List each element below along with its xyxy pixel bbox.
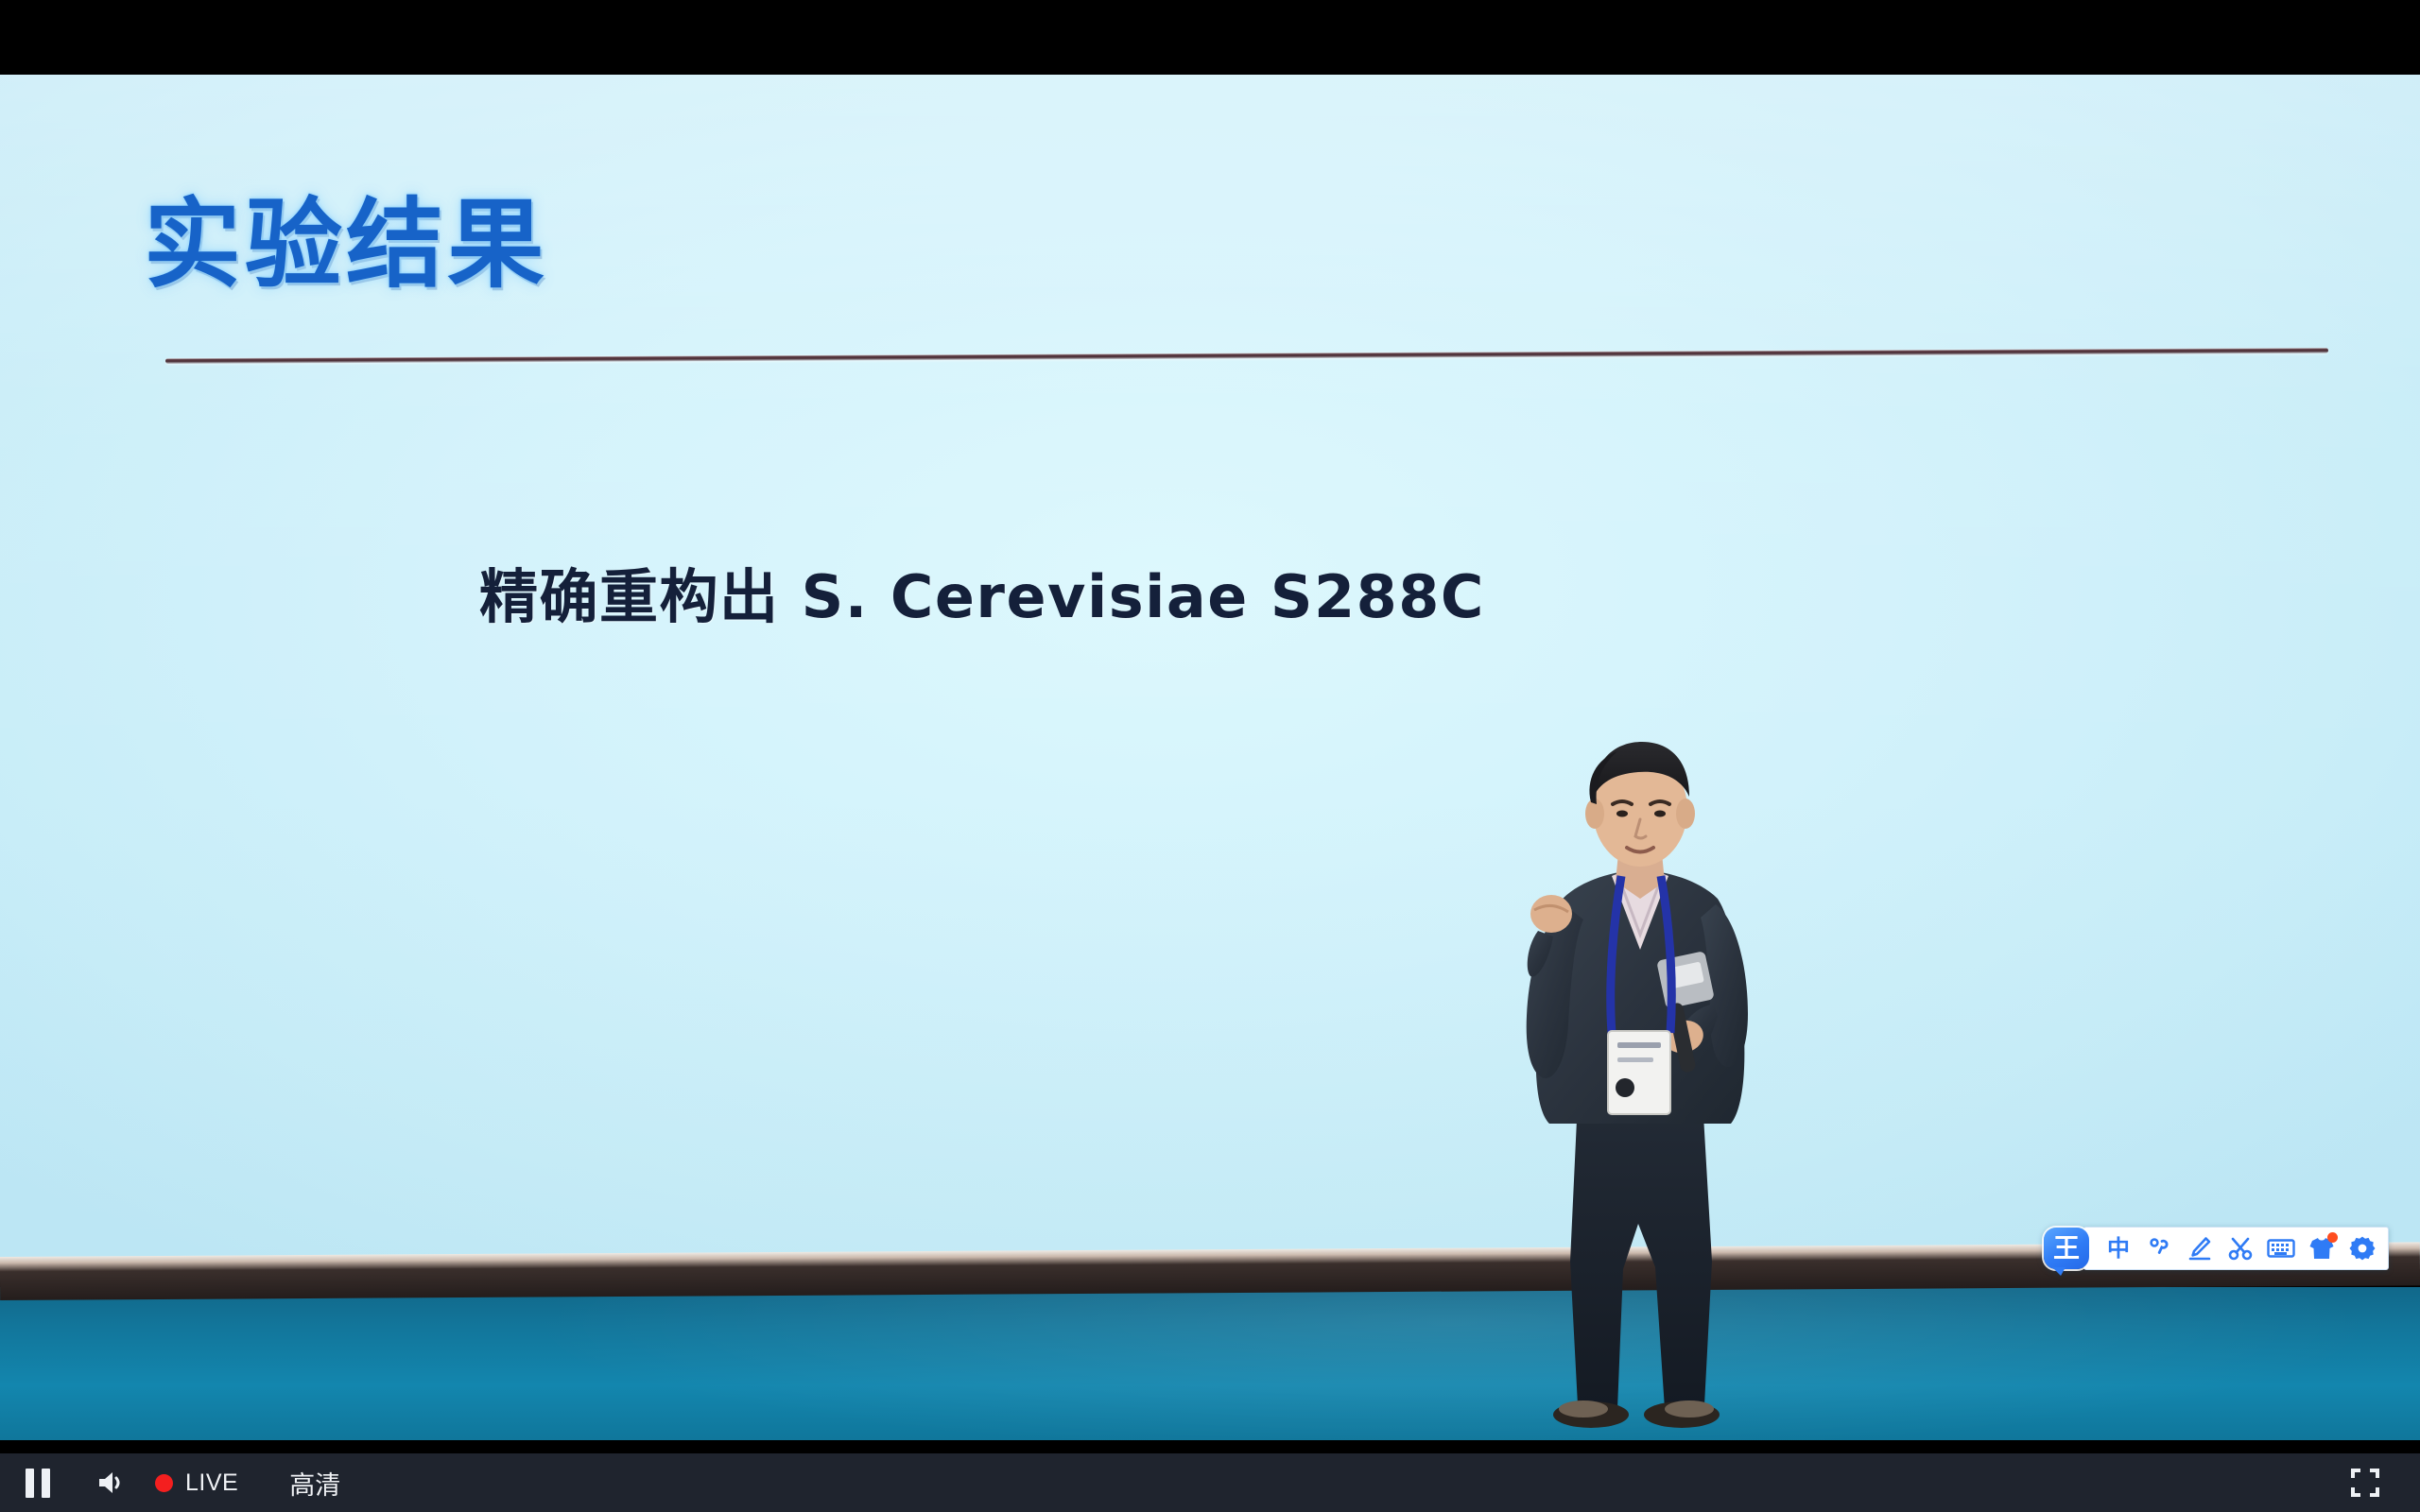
skin-notification-badge bbox=[2327, 1232, 2338, 1243]
volume-icon bbox=[96, 1469, 129, 1497]
handwriting-button[interactable] bbox=[2181, 1230, 2219, 1266]
pause-button[interactable] bbox=[0, 1453, 76, 1512]
slide-title: 实验结果 bbox=[144, 165, 548, 306]
live-indicator[interactable]: LIVE bbox=[155, 1469, 238, 1497]
quality-selector[interactable]: 高清 bbox=[289, 1465, 340, 1502]
chinese-mode-button[interactable]: 中 bbox=[2100, 1230, 2137, 1266]
pause-icon bbox=[26, 1469, 50, 1498]
letterbox-bottom-bar bbox=[0, 1440, 2420, 1453]
scissors-icon bbox=[2227, 1235, 2254, 1262]
live-record-dot-icon bbox=[155, 1474, 173, 1492]
live-video-player[interactable]: 实验结果 精确重构出 S. Cerevisiae S288C bbox=[0, 0, 2420, 1512]
settings-button[interactable] bbox=[2343, 1230, 2381, 1266]
stage-floor-sheen bbox=[0, 1287, 2420, 1453]
keyboard-icon bbox=[2267, 1237, 2295, 1260]
punctuation-icon bbox=[2147, 1236, 2171, 1261]
ime-button-panel[interactable]: 中 bbox=[2083, 1227, 2389, 1270]
stage-floor bbox=[0, 1287, 2420, 1453]
volume-button[interactable] bbox=[76, 1453, 149, 1512]
video-viewport[interactable]: 实验结果 精确重构出 S. Cerevisiae S288C bbox=[0, 0, 2420, 1453]
screenshot-button[interactable] bbox=[2221, 1230, 2259, 1266]
soft-keyboard-button[interactable] bbox=[2262, 1230, 2300, 1266]
exit-fullscreen-icon bbox=[2349, 1467, 2381, 1499]
player-control-bar[interactable]: LIVE 高清 bbox=[0, 1453, 2420, 1512]
punctuation-mode-button[interactable] bbox=[2140, 1230, 2178, 1266]
skin-button[interactable] bbox=[2303, 1230, 2341, 1266]
presentation-screen: 实验结果 精确重构出 S. Cerevisiae S288C bbox=[0, 75, 2420, 1280]
live-label: LIVE bbox=[185, 1469, 238, 1497]
ime-logo-icon[interactable]: 王 bbox=[2044, 1228, 2089, 1269]
letterbox-top-bar bbox=[0, 0, 2420, 75]
slide-divider-line bbox=[165, 348, 2328, 364]
slide-body-text: 精确重构出 S. Cerevisiae S288C bbox=[479, 549, 1485, 634]
gear-icon bbox=[2349, 1235, 2376, 1262]
ime-toolbar[interactable]: 王 中 bbox=[2044, 1225, 2389, 1272]
pencil-icon bbox=[2187, 1235, 2213, 1262]
exit-fullscreen-button[interactable] bbox=[2320, 1453, 2411, 1512]
presenter-figure bbox=[1479, 732, 1801, 1432]
